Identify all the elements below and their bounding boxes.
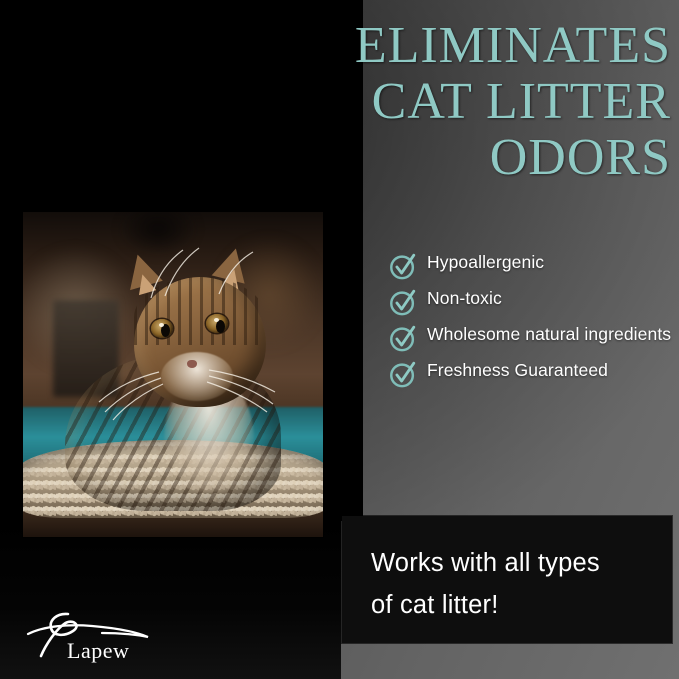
callout-line-1: Works with all types bbox=[371, 542, 661, 584]
kitten-eye-glint-left bbox=[159, 323, 164, 327]
list-item-label: Hypoallergenic bbox=[427, 250, 544, 275]
kitten-nose bbox=[187, 360, 197, 368]
check-circle-icon bbox=[388, 287, 418, 317]
photo-dark-ceiling-blob bbox=[107, 212, 209, 264]
callout-line-2: of cat litter! bbox=[371, 584, 661, 626]
check-circle-icon bbox=[388, 251, 418, 281]
list-item: Wholesome natural ingredients bbox=[388, 322, 673, 353]
logo-wordmark: Lapew bbox=[67, 638, 129, 664]
list-item-label: Non-toxic bbox=[427, 286, 502, 311]
check-circle-icon bbox=[388, 359, 418, 389]
kitten-in-litter-box-photo bbox=[23, 212, 323, 537]
list-item: Hypoallergenic bbox=[388, 250, 673, 281]
benefits-list: Hypoallergenic Non-toxic Wholesome natur… bbox=[388, 250, 673, 394]
list-item-label: Freshness Guaranteed bbox=[427, 358, 608, 383]
brand-logo: Lapew bbox=[24, 604, 164, 666]
headline-line-1: ELIMINATES bbox=[271, 18, 671, 74]
headline-line-3: ODORS bbox=[271, 130, 671, 186]
check-circle-icon bbox=[388, 323, 418, 353]
callout-box: Works with all types of cat litter! bbox=[342, 516, 672, 643]
kitten-muzzle bbox=[161, 352, 233, 401]
product-infographic: ELIMINATES CAT LITTER ODORS Hypoallergen… bbox=[0, 0, 679, 679]
callout-text: Works with all types of cat litter! bbox=[371, 542, 661, 626]
headline-line-2: CAT LITTER bbox=[271, 74, 671, 130]
page-title: ELIMINATES CAT LITTER ODORS bbox=[271, 18, 671, 186]
list-item-label: Wholesome natural ingredients bbox=[427, 322, 671, 347]
list-item: Freshness Guaranteed bbox=[388, 358, 673, 389]
list-item: Non-toxic bbox=[388, 286, 673, 317]
